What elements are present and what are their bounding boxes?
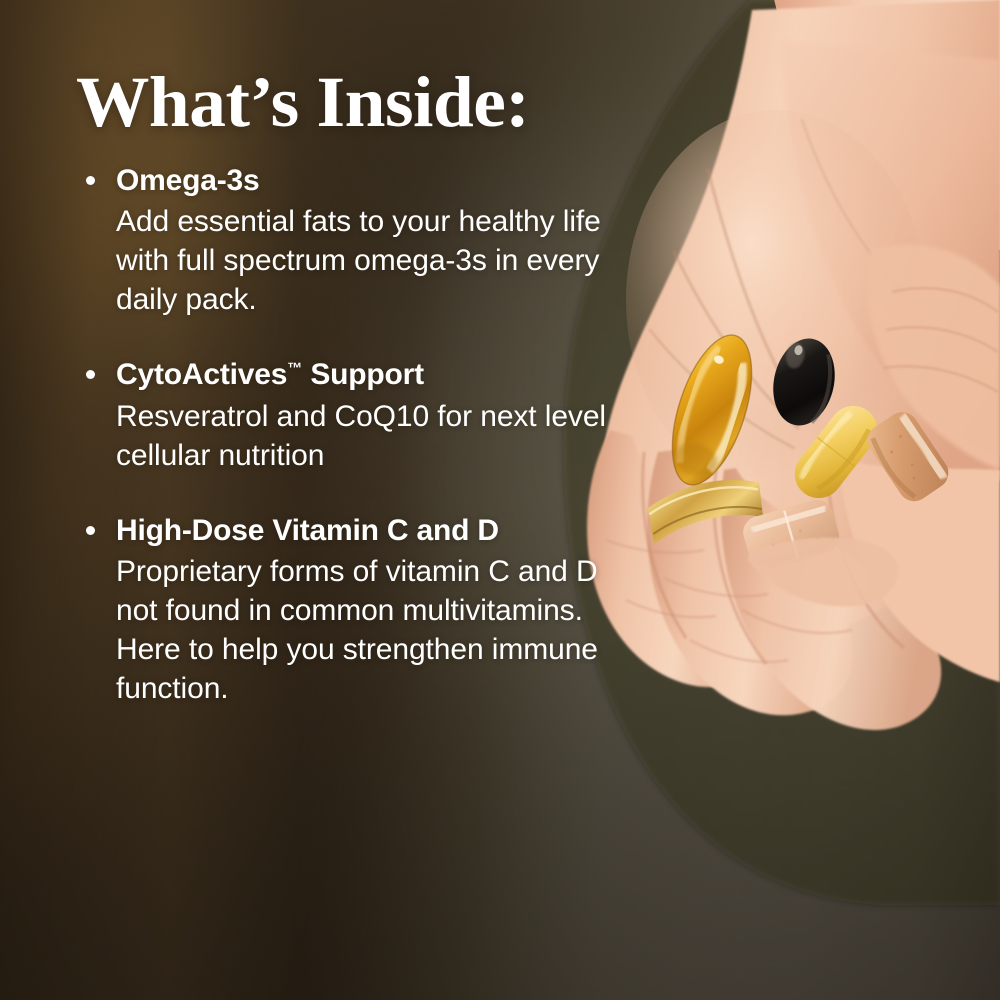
list-item-cytoactives-support: CytoActives™ Support Resveratrol and CoQ…: [78, 357, 638, 474]
marketing-card: What’s Inside: Omega-3s Add essential fa…: [0, 0, 1000, 1000]
list-item-title: High-Dose Vitamin C and D: [116, 513, 638, 548]
list-item-title: Omega-3s: [116, 163, 638, 198]
list-item-title-suffix: Support: [302, 358, 424, 391]
list-item-body: Proprietary forms of vitamin C and D not…: [116, 552, 616, 708]
list-item-body: Resveratrol and CoQ10 for next level cel…: [116, 397, 616, 475]
bullet-dot-icon: [86, 526, 95, 535]
list-item-high-dose-vitamin-c-and-d: High-Dose Vitamin C and D Proprietary fo…: [78, 513, 638, 708]
benefit-list: Omega-3s Add essential fats to your heal…: [78, 163, 638, 708]
bullet-dot-icon: [86, 176, 95, 185]
page-title: What’s Inside:: [76, 66, 529, 138]
list-item-omega-3s: Omega-3s Add essential fats to your heal…: [78, 163, 638, 319]
list-item-body: Add essential fats to your healthy life …: [116, 202, 616, 319]
list-item-title-text: CytoActives: [116, 358, 287, 391]
list-item-title: CytoActives™ Support: [116, 357, 638, 392]
text-column: What’s Inside: Omega-3s Add essential fa…: [0, 0, 640, 1000]
trademark-symbol: ™: [287, 360, 302, 377]
bullet-dot-icon: [86, 370, 95, 379]
